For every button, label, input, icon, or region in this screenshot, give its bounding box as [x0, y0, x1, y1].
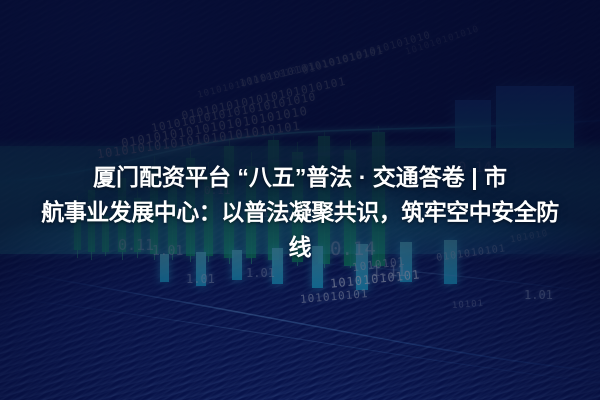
headline-line-3: 线 — [0, 230, 600, 265]
headline-text: 厦门配资平台 “八五”普法 · 交通答卷 | 市 航事业发展中心：以普法凝聚共识… — [0, 160, 600, 265]
headline-line-2: 航事业发展中心：以普法凝聚共识，筑牢空中安全防 — [0, 195, 600, 230]
headline-line-1: 厦门配资平台 “八五”普法 · 交通答卷 | 市 — [0, 160, 600, 195]
background-image-canvas: 1010101010101010101101010101010101010101… — [0, 0, 600, 400]
